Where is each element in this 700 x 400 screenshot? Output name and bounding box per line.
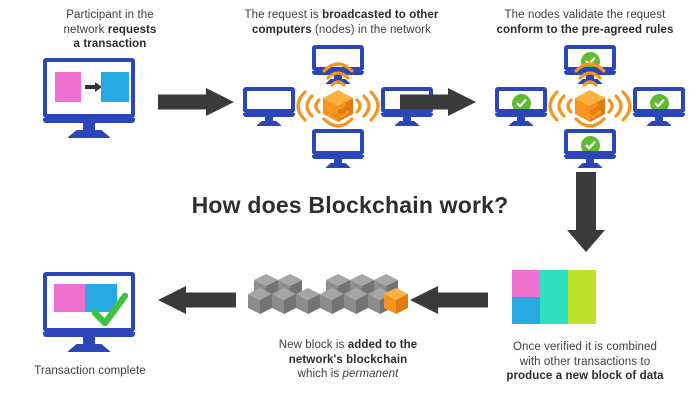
node-monitor-verified-left [495,87,547,126]
signal-wave-icon-right [355,90,381,122]
monitor-transaction-icon [43,58,135,138]
monitor-neck [83,123,95,130]
node-monitor-verified-right [633,87,685,126]
signal-wave-icon-left [295,90,321,122]
node-monitor-bottom [312,129,364,168]
transfer-arrow-icon [85,85,95,89]
network-nodes-verified-cluster [495,45,685,165]
data-block-icon [512,270,596,324]
green-check-badge-icon [650,94,669,113]
arrow-right-icon-1 [158,85,236,119]
signal-wave-icon-up [574,61,606,87]
pink-square [55,72,81,102]
step-2-caption: The request is broadcasted to othercompu… [224,8,459,37]
green-check-badge-icon [512,94,531,113]
monitor-neck [83,337,95,344]
step-4-caption: Once verified it is combinedwith other t… [472,340,698,384]
monitor-complete-icon [43,272,135,352]
arrow-left-icon-1 [410,283,488,317]
block-cell-blue [512,297,540,324]
green-check-badge-icon [581,136,600,155]
signal-wave-icon-down [322,103,354,129]
blockchain-cubes-icon [248,272,408,318]
blue-square [101,72,129,102]
step-6-caption: Transaction complete [10,364,170,379]
blockchain-infographic: How does Blockchain work? Participant in… [0,0,700,400]
monitor-stand [67,344,111,352]
signal-wave-icon-up [322,61,354,87]
signal-wave-icon-right [607,90,633,122]
block-cell-lime [568,270,596,324]
signal-wave-icon-down [574,103,606,129]
arrow-left-icon-2 [158,283,236,317]
signal-wave-icon-left [547,90,573,122]
pink-square [54,284,85,312]
block-cell-pink [512,270,540,297]
step-5-caption: New block is added to thenetwork's block… [238,338,458,382]
node-monitor-verified-bottom [564,129,616,168]
arrow-right-icon-2 [400,85,478,119]
node-monitor-left [243,87,295,126]
green-checkmark-icon [91,292,129,328]
step-1-caption: Participant in thenetwork requestsa tran… [20,8,200,52]
step-3-caption: The nodes validate the requestconform to… [472,8,698,37]
block-cell-teal [540,270,568,324]
monitor-stand [67,130,111,138]
arrow-down-icon [566,172,606,254]
